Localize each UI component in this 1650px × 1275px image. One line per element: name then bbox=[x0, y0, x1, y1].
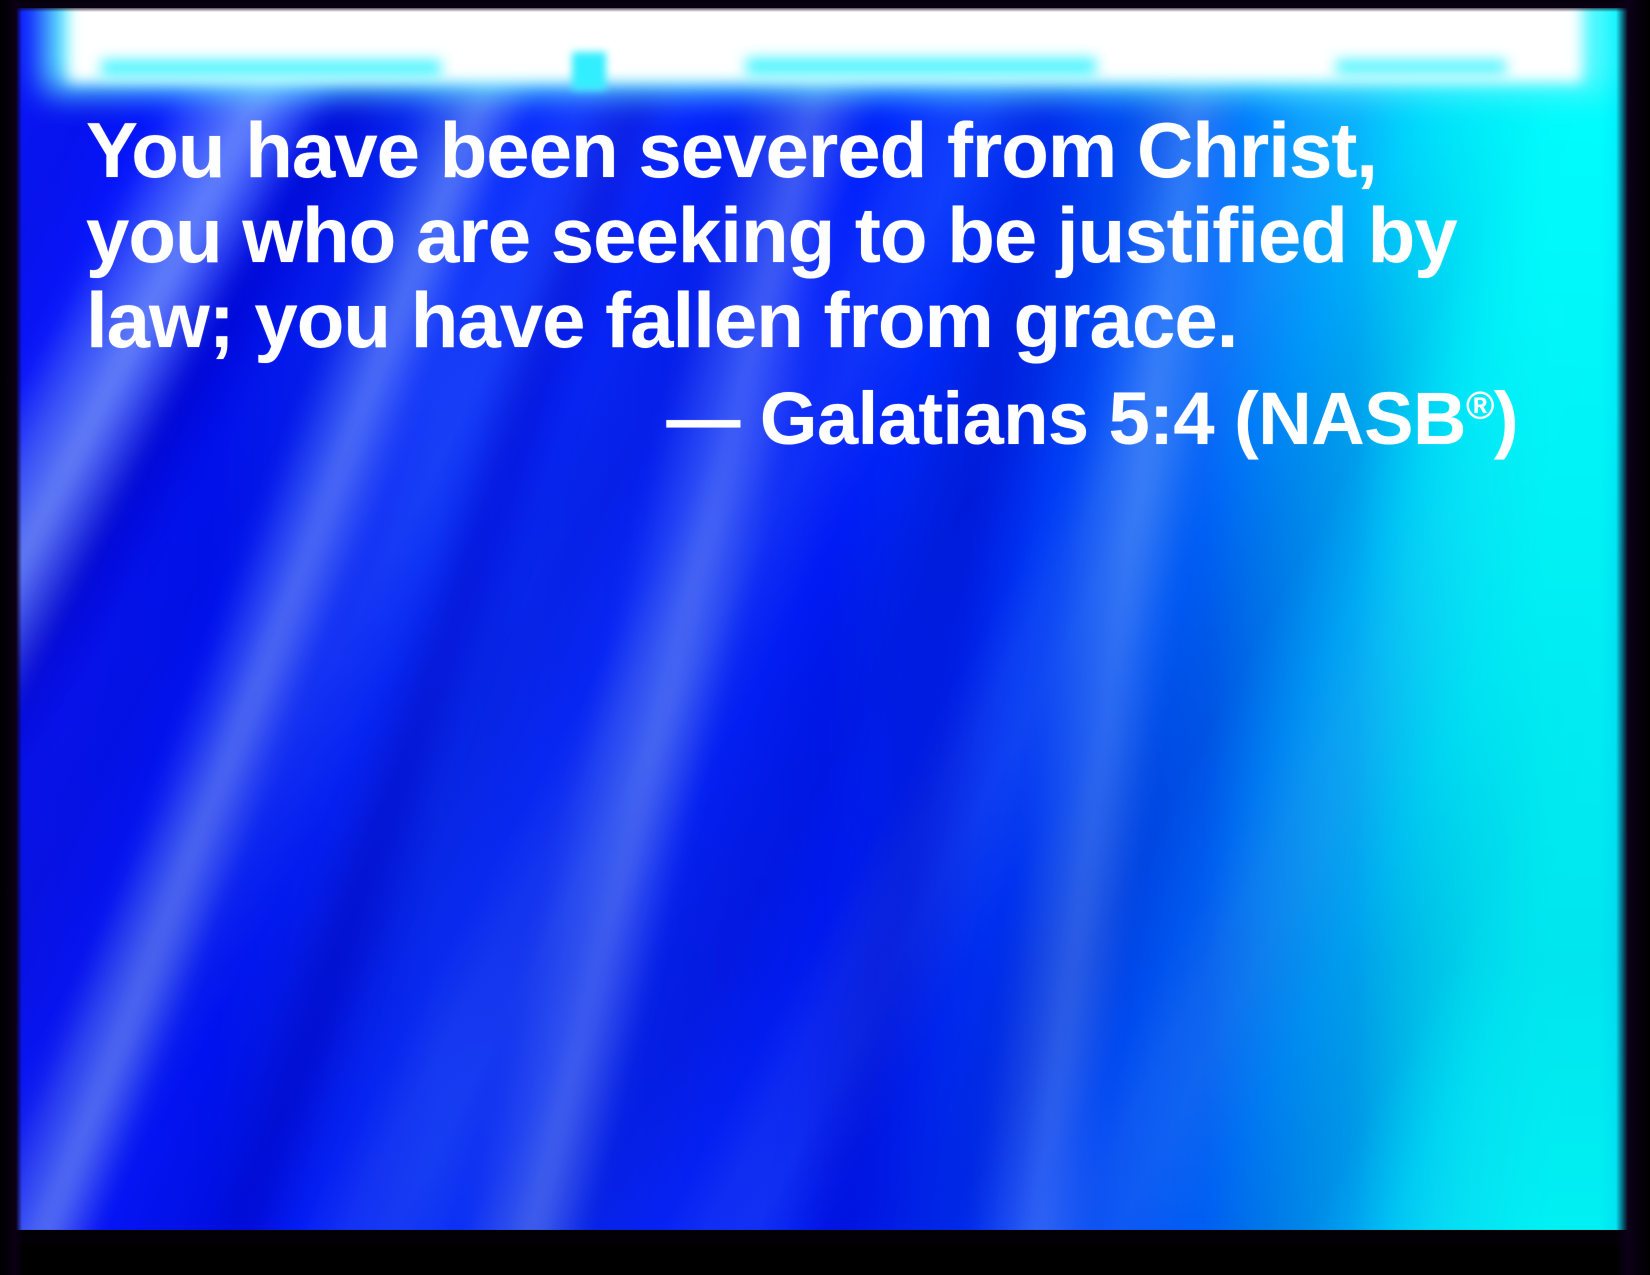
attribution-prefix: — Galatians 5:4 (NASB bbox=[666, 377, 1466, 460]
registered-trademark-icon: ® bbox=[1466, 384, 1494, 427]
verse-slide: You have been severed from Christ, you w… bbox=[0, 0, 1650, 1275]
top-glow-cyan-streak-center bbox=[746, 58, 1096, 75]
top-glow-cyan-streak-right bbox=[1336, 60, 1506, 74]
attribution-suffix: ) bbox=[1494, 377, 1518, 460]
top-glow-notch bbox=[572, 52, 606, 90]
verse-attribution: — Galatians 5:4 (NASB®) bbox=[86, 378, 1518, 460]
top-glow-cyan-streak-left bbox=[101, 60, 441, 76]
verse-body-text: You have been severed from Christ, you w… bbox=[86, 108, 1516, 363]
